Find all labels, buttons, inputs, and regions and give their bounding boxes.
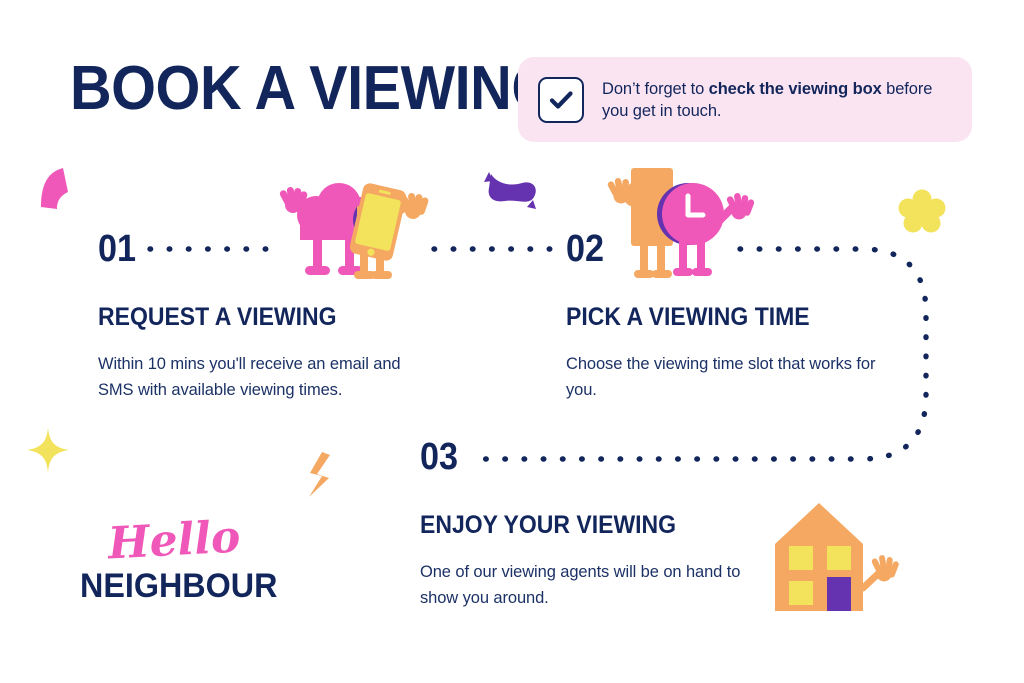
checkbox-checked-icon[interactable] bbox=[538, 77, 584, 123]
house-waving-hand-icon bbox=[863, 555, 900, 588]
pink-cloud-character bbox=[279, 183, 379, 275]
step-02-body: Choose the viewing time slot that works … bbox=[566, 351, 886, 403]
yellow-sparkle-shape bbox=[27, 427, 69, 473]
step-01: 01 REQUEST A VIEWING Within 10 mins you'… bbox=[98, 230, 140, 268]
house-shape bbox=[775, 503, 863, 611]
orange-phone-character bbox=[348, 182, 429, 279]
pink-clock-character bbox=[657, 183, 755, 276]
callout-banner: Don’t forget to check the viewing box be… bbox=[518, 57, 972, 142]
step-01-body: Within 10 mins you'll receive an email a… bbox=[98, 351, 428, 403]
page-title: BOOK A VIEWING bbox=[70, 58, 556, 120]
logo-script-word: Hello bbox=[107, 515, 242, 568]
step-02: 02 PICK A VIEWING TIME Choose the viewin… bbox=[566, 230, 608, 268]
step-02-number: 02 bbox=[566, 230, 604, 268]
orange-door-character bbox=[607, 168, 673, 278]
orange-lightning-shape bbox=[309, 452, 330, 497]
logo-block-word: NEIGHBOUR bbox=[80, 568, 277, 604]
callout-text-before: Don’t forget to bbox=[602, 80, 709, 98]
yellow-flower-shape bbox=[899, 190, 946, 233]
step-01-heading: REQUEST A VIEWING bbox=[98, 305, 337, 330]
step-01-number: 01 bbox=[98, 230, 136, 268]
pink-comma-shape bbox=[41, 168, 68, 209]
step-03-heading: ENJOY YOUR VIEWING bbox=[420, 513, 676, 538]
callout-text: Don’t forget to check the viewing box be… bbox=[602, 78, 952, 122]
brand-logo[interactable]: Hello NEIGHBOUR bbox=[80, 518, 280, 610]
step-03-body: One of our viewing agents will be on han… bbox=[420, 559, 760, 611]
callout-text-bold: check the viewing box bbox=[709, 80, 882, 98]
step-03: 03 ENJOY YOUR VIEWING One of our viewing… bbox=[420, 438, 462, 476]
step-03-number: 03 bbox=[420, 438, 458, 476]
infographic-canvas: BOOK A VIEWING Don’t forget to check the… bbox=[0, 0, 1024, 683]
purple-ribbon-shape bbox=[484, 172, 536, 209]
step-02-heading: PICK A VIEWING TIME bbox=[566, 305, 810, 330]
